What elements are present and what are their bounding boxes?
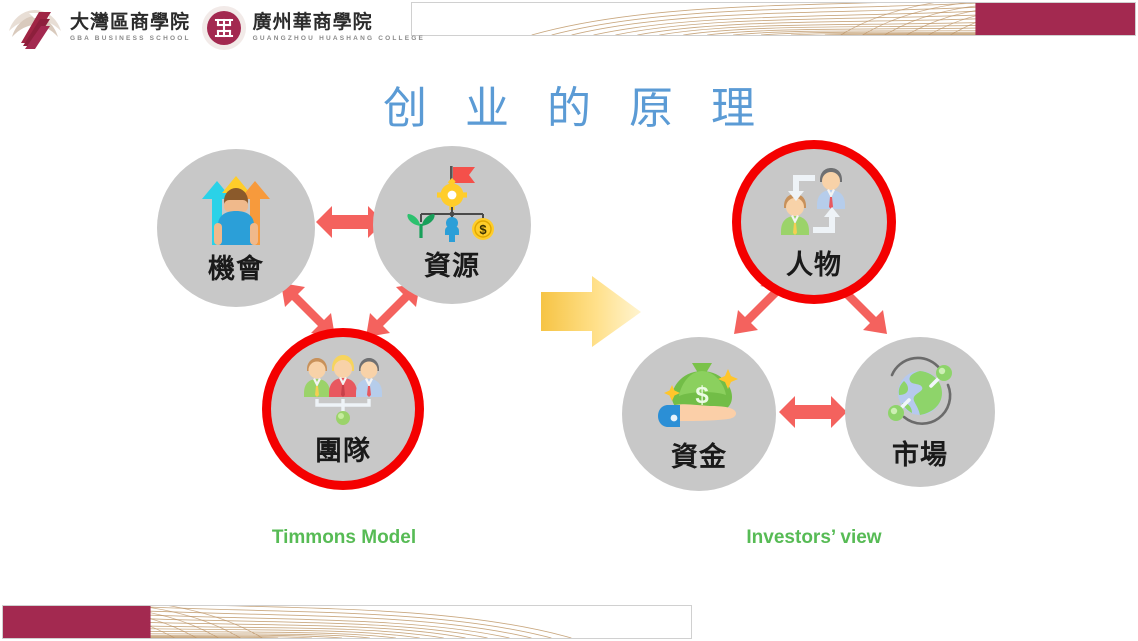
connector-team-opportunity [281, 283, 335, 337]
institution-logo-bar: 大灣區商學院 GBA BUSINESS SCHOOL [6, 4, 425, 52]
connector-people-capital [734, 284, 784, 334]
logo-gba-business-school: 大灣區商學院 GBA BUSINESS SCHOOL [6, 4, 191, 52]
node-label: 市場 [892, 433, 948, 472]
node-opportunity[interactable]: 機會 [157, 149, 315, 307]
footer-decoration-band [2, 605, 692, 639]
person-growth-arrows-icon [194, 167, 278, 245]
logo-name-cn: 大灣區商學院 [70, 13, 191, 32]
node-team[interactable]: 團隊 [271, 337, 415, 481]
page-title: 创 业 的 原 理 [0, 72, 1138, 136]
hand-money-bag-icon: $ [654, 355, 744, 433]
gold-wave-pattern-icon [412, 3, 1135, 35]
node-label: 資源 [424, 244, 480, 283]
org-chart-flag-gear-icon: $ [405, 164, 499, 242]
logo-name-cn: 廣州華商學院 [253, 13, 425, 32]
connector-people-market [837, 284, 887, 334]
gba-book-logo-icon [6, 4, 64, 52]
node-people[interactable]: 人物 [741, 149, 887, 295]
connector-capital-market [779, 396, 847, 428]
three-people-team-icon [299, 355, 387, 427]
transition-arrow-icon [541, 276, 641, 347]
node-capital[interactable]: $ 資金 [622, 337, 776, 491]
globe-network-icon [878, 355, 962, 431]
header-decoration-band [411, 2, 1136, 36]
caption-timmons-model: Timmons Model [244, 527, 444, 549]
logo-name-en: GBA BUSINESS SCHOOL [70, 36, 191, 43]
node-label: 人物 [786, 243, 842, 282]
node-label: 團隊 [315, 429, 371, 468]
node-resources[interactable]: $ 資源 [373, 146, 531, 304]
node-label: 機會 [208, 247, 264, 286]
svg-text:$: $ [479, 222, 487, 237]
node-label: 資金 [671, 435, 727, 474]
huashang-seal-logo-icon [201, 5, 247, 51]
caption-investors-view: Investors’ view [714, 527, 914, 549]
logo-guangzhou-huashang-college: 廣州華商學院 GUANGZHOU HUASHANG COLLEGE [201, 5, 425, 51]
two-people-exchange-icon [771, 167, 857, 241]
logo-name-en: GUANGZHOU HUASHANG COLLEGE [253, 36, 425, 43]
node-market[interactable]: 市場 [845, 337, 995, 487]
slide-canvas: 大灣區商學院 GBA BUSINESS SCHOOL [0, 0, 1138, 641]
gold-wave-pattern-icon [3, 606, 691, 638]
